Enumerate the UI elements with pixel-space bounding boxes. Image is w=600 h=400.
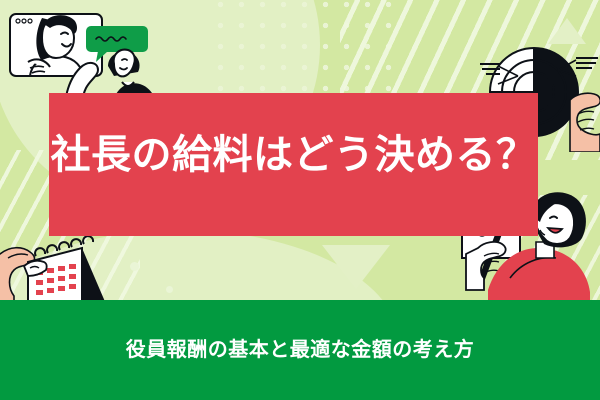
background-triangle-center [322, 245, 390, 289]
page-subtitle: 役員報酬の基本と最適な金額の考え方 [0, 333, 600, 362]
banner-image: 社長の給料はどう決める？ 役員報酬の基本と最適な金額の考え方 [0, 0, 600, 400]
background-accent-dot-3 [166, 286, 173, 293]
page-title: 社長の給料はどう決める？ [49, 132, 538, 178]
